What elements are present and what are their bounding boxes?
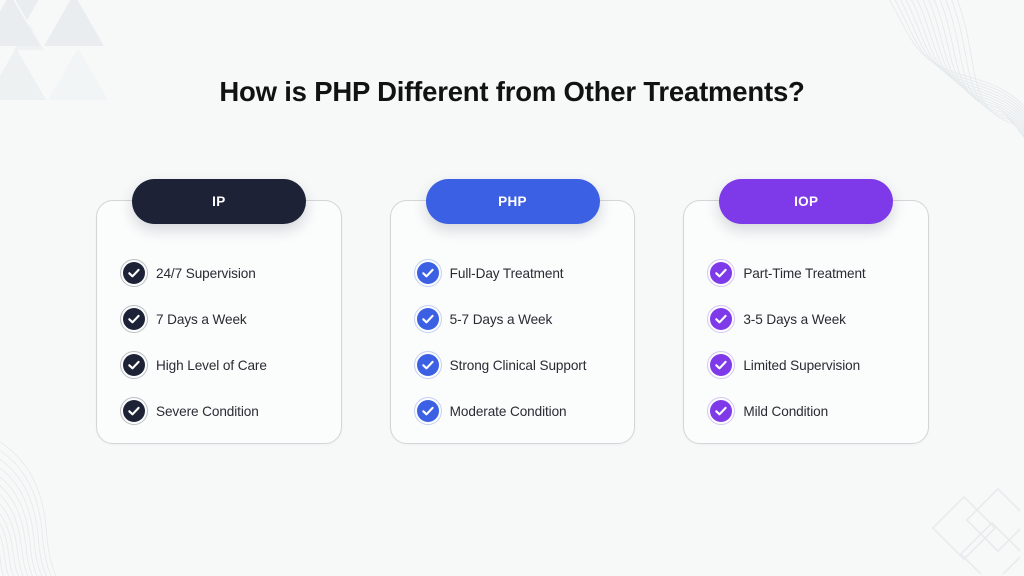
feature-label: 7 Days a Week — [156, 312, 247, 327]
check-circle-icon — [710, 308, 732, 330]
card-header-php: PHP — [426, 179, 600, 224]
card-header-label: IOP — [794, 194, 818, 209]
check-circle-icon — [417, 354, 439, 376]
feature-label: 5-7 Days a Week — [450, 312, 553, 327]
list-item: High Level of Care — [123, 342, 327, 388]
list-item: 3-5 Days a Week — [710, 296, 914, 342]
diamond-outlines-icon — [924, 476, 1020, 574]
treatment-card-ip: IP 24/7 Supervision 7 Days a Week High L… — [96, 200, 342, 444]
feature-label: Severe Condition — [156, 404, 259, 419]
feature-label: Limited Supervision — [743, 358, 860, 373]
page-title: How is PHP Different from Other Treatmen… — [0, 76, 1024, 108]
check-circle-icon — [417, 262, 439, 284]
feature-label: Full-Day Treatment — [450, 266, 564, 281]
list-item: Part-Time Treatment — [710, 250, 914, 296]
list-item: 5-7 Days a Week — [417, 296, 621, 342]
feature-label: Strong Clinical Support — [450, 358, 587, 373]
feature-label: Mild Condition — [743, 404, 828, 419]
check-circle-icon — [710, 400, 732, 422]
check-circle-icon — [417, 400, 439, 422]
feature-label: 24/7 Supervision — [156, 266, 256, 281]
list-item: Mild Condition — [710, 388, 914, 434]
feature-label: 3-5 Days a Week — [743, 312, 846, 327]
list-item: Full-Day Treatment — [417, 250, 621, 296]
list-item: 7 Days a Week — [123, 296, 327, 342]
check-circle-icon — [123, 262, 145, 284]
treatment-card-php: PHP Full-Day Treatment 5-7 Days a Week S… — [390, 200, 636, 444]
wave-lines-icon — [872, 0, 1024, 142]
check-circle-icon — [123, 400, 145, 422]
treatment-card-iop: IOP Part-Time Treatment 3-5 Days a Week … — [683, 200, 929, 444]
list-item: Moderate Condition — [417, 388, 621, 434]
feature-list-php: Full-Day Treatment 5-7 Days a Week Stron… — [417, 250, 621, 434]
feature-label: High Level of Care — [156, 358, 267, 373]
feature-list-ip: 24/7 Supervision 7 Days a Week High Leve… — [123, 250, 327, 434]
feature-label: Moderate Condition — [450, 404, 567, 419]
list-item: Severe Condition — [123, 388, 327, 434]
check-circle-icon — [123, 308, 145, 330]
check-circle-icon — [417, 308, 439, 330]
list-item: Limited Supervision — [710, 342, 914, 388]
feature-list-iop: Part-Time Treatment 3-5 Days a Week Limi… — [710, 250, 914, 434]
card-header-ip: IP — [132, 179, 306, 224]
check-circle-icon — [710, 354, 732, 376]
list-item: 24/7 Supervision — [123, 250, 327, 296]
card-header-label: IP — [212, 194, 225, 209]
card-header-label: PHP — [498, 194, 527, 209]
treatment-comparison-cards: IP 24/7 Supervision 7 Days a Week High L… — [96, 200, 929, 444]
feature-label: Part-Time Treatment — [743, 266, 865, 281]
card-header-iop: IOP — [719, 179, 893, 224]
check-circle-icon — [710, 262, 732, 284]
list-item: Strong Clinical Support — [417, 342, 621, 388]
check-circle-icon — [123, 354, 145, 376]
